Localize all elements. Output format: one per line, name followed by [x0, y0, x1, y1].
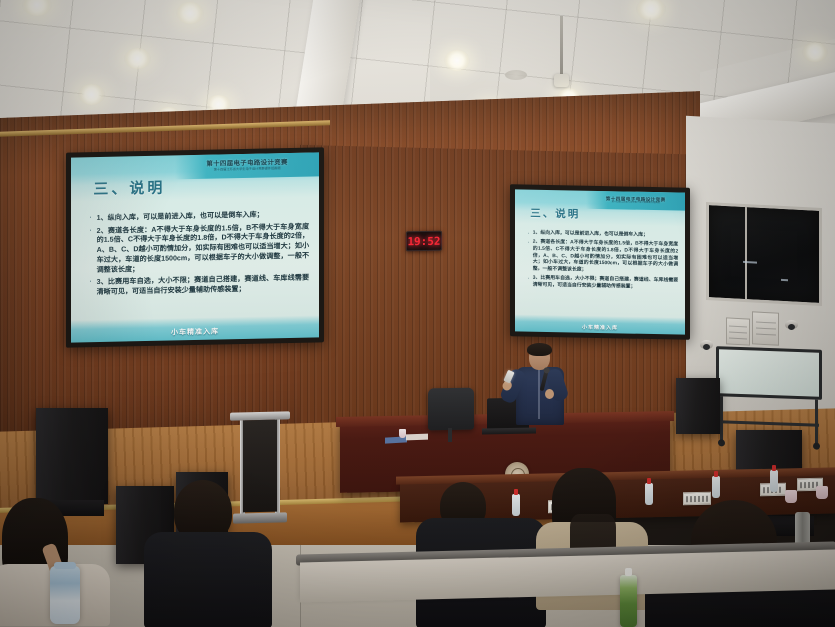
bullet-marker-icon: · [90, 214, 97, 224]
slide-left: 第十四届电子电路设计竞赛 第十四届江苏省大学生电子设计竞赛硬件组赛题 三、说明 … [71, 152, 319, 342]
green-tea-bottle [620, 575, 637, 627]
laptop-keyboard-base [482, 428, 536, 435]
window-reflection [743, 261, 757, 264]
slide-banner-subtitle: 第十四届江苏省大学生电子设计竞赛硬件组赛题 [214, 167, 281, 172]
slide-bullet: · 3、比赛用车自选，大小不限；赛道自己搭建，赛道线、车库线需要清晰可见，可适当… [90, 274, 310, 298]
water-bottle [770, 470, 778, 492]
loudspeaker [36, 408, 108, 504]
ceiling-hanging-sensor-icon [560, 16, 563, 78]
lecture-hall-photo: 第十四届电子电路设计竞赛 第十四届江苏省大学生电子设计竞赛硬件组赛题 三、说明 … [0, 0, 835, 627]
presenter-handheld-device [503, 370, 514, 384]
office-chair [428, 388, 474, 431]
slide-body: · 1、纵向入库，可以是前进入库，也可以是倒车入库； · 2、赛道各长度：A不得… [528, 231, 678, 295]
paper-sheet [406, 434, 428, 441]
slide-title: 三、说明 [530, 209, 580, 220]
bullet-text: 1、纵向入库，可以是前进入库，也可以是倒车入库； [533, 231, 678, 240]
ceiling-vent [505, 70, 527, 80]
led-wall-clock: 19:52 [406, 231, 442, 252]
projection-screen-right[interactable]: 第十四届电子电路设计竞赛 第十四届江苏省大学生电子设计竞赛硬件组赛题 三、说明 … [510, 184, 690, 339]
ceiling-downlight [124, 48, 151, 69]
slide-footer: 小车精准入库 [515, 322, 685, 332]
projection-screen-left[interactable]: 第十四届电子电路设计竞赛 第十四届江苏省大学生电子设计竞赛硬件组赛题 三、说明 … [66, 147, 324, 347]
bullet-text: 2、赛道各长度：A不得大于车身长度的1.5倍，B不得大于车身宽度的1.5倍、C不… [533, 240, 678, 276]
audience-torso [144, 532, 272, 627]
whiteboard-wheel [813, 443, 820, 450]
ceiling-downlight [176, 2, 204, 24]
window-reflection [781, 279, 788, 281]
loudspeaker [676, 378, 720, 434]
ceiling-downlight [78, 84, 105, 105]
slide-footer: 小车精准入库 [71, 325, 319, 340]
bullet-marker-icon: · [90, 227, 97, 276]
slide-bullet: · 3、比赛用车自选，大小不限；赛道自己搭建，赛道线、车库线需要清晰可见，可适当… [528, 276, 678, 292]
pink-cup [816, 486, 828, 499]
presenter-hand-holding-mic [545, 389, 554, 399]
window [706, 202, 822, 306]
whiteboard-crossbar [719, 420, 819, 426]
slide-banner: 第十四届电子电路设计竞赛 第十四届江苏省大学生电子设计竞赛硬件组赛题 [175, 152, 319, 179]
slide-bullet: · 1、纵向入库，可以是前进入库，也可以是倒车入库； [528, 231, 678, 241]
slide-bullet: · 2、赛道各长度：A不得大于车身长度的1.5倍，B不得大于车身宽度的1.5倍、… [528, 240, 678, 276]
whiteboard-wheel [718, 439, 725, 446]
slide-body: · 1、纵向入库，可以是前进入库，也可以是倒车入库； · 2、赛道各长度：A不得… [90, 210, 310, 300]
presenter-hair [527, 343, 552, 356]
electrical-panel-large [752, 311, 779, 345]
cctv-camera-icon [700, 340, 713, 349]
presenter-jacket-zipper [538, 369, 540, 419]
slide-banner: 第十四届电子电路设计竞赛 第十四届江苏省大学生电子设计竞赛硬件组赛题 [586, 191, 685, 211]
slide-bullet: · 2、赛道各长度：A不得大于车身长度的1.5倍，B不得大于车身宽度的1.5倍、… [90, 222, 310, 276]
cctv-camera-icon [785, 320, 798, 329]
audience-member [150, 480, 270, 627]
electrical-panel-small [726, 317, 750, 345]
paper-cup [399, 429, 406, 438]
clock-time: 19:52 [407, 234, 440, 248]
slide-title: 三、说明 [93, 181, 165, 198]
whiteboard-surface [716, 346, 822, 400]
slide-banner-subtitle: 第十四届江苏省大学生电子设计竞赛硬件组赛题 [612, 202, 660, 205]
bullet-text: 2、赛道各长度：A不得大于车身长度的1.5倍，B不得大于车身宽度的1.5倍、C不… [97, 222, 310, 275]
bullet-text: 3、比赛用车自选，大小不限；赛道自己搭建，赛道线、车库线需要清晰可见，可适当自行… [533, 276, 678, 292]
water-bottle [712, 476, 720, 498]
bullet-marker-icon: · [90, 278, 97, 298]
presenter-speaker [505, 345, 575, 425]
water-tumbler [50, 566, 80, 624]
ceiling-downlight [444, 50, 470, 71]
ceiling-downlight [802, 42, 828, 62]
slide-right: 第十四届电子电路设计竞赛 第十四届江苏省大学生电子设计竞赛硬件组赛题 三、说明 … [515, 189, 685, 334]
bullet-text: 3、比赛用车自选，大小不限；赛道自己搭建，赛道线、车库线需要清晰可见，可适当自行… [97, 274, 310, 298]
